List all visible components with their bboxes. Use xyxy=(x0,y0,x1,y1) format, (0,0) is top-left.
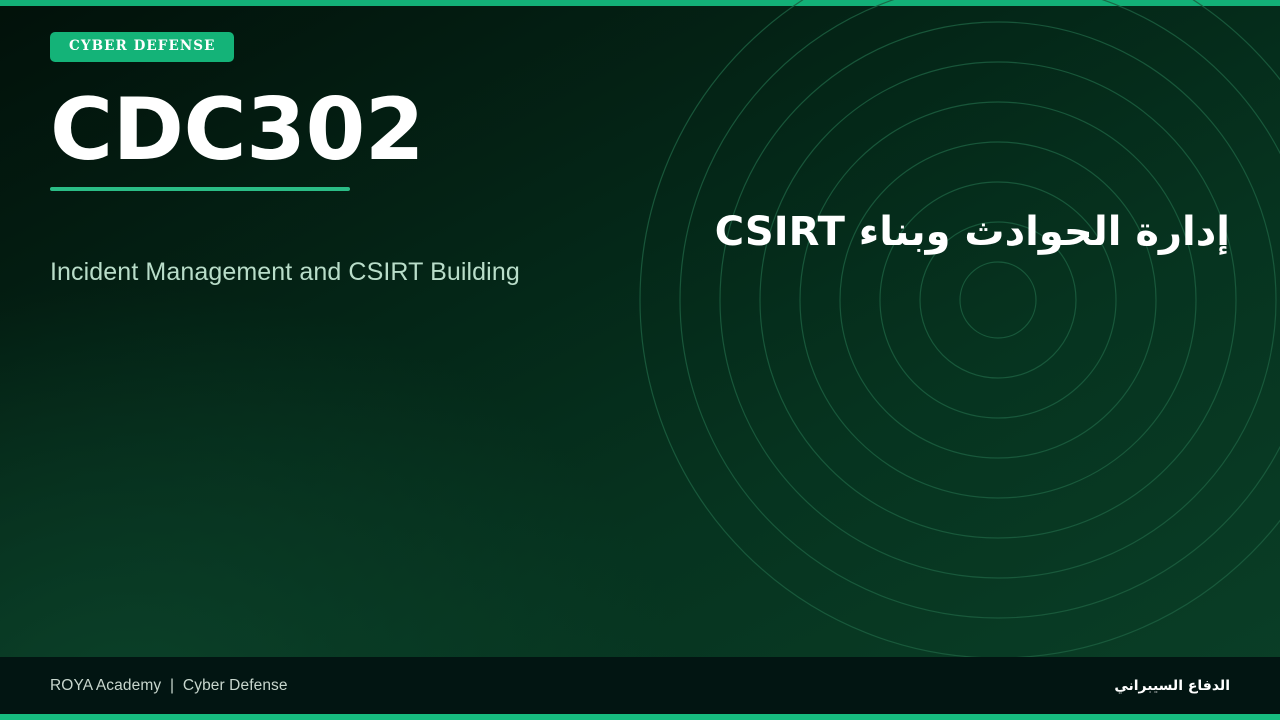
subtitle-english: Incident Management and CSIRT Building xyxy=(50,257,690,287)
title-accent-rule xyxy=(50,187,350,191)
bottom-accent-stripe xyxy=(0,714,1280,720)
slide-footer: ROYA Academy | Cyber Defense الدفاع السي… xyxy=(0,657,1280,714)
ring-9 xyxy=(640,0,1280,658)
title-arabic: إدارة الحوادث وبناء CSIRT xyxy=(610,207,1230,257)
ring-7 xyxy=(720,22,1276,578)
slide-root: CYBER DEFENSE CDC302 Incident Management… xyxy=(0,0,1280,720)
ring-8 xyxy=(680,0,1280,618)
ring-5 xyxy=(800,102,1196,498)
footer-right-text-arabic: الدفاع السيبراني xyxy=(1114,678,1230,694)
slide-content: CYBER DEFENSE CDC302 Incident Management… xyxy=(50,32,690,287)
ring-6 xyxy=(760,62,1236,538)
ring-1 xyxy=(960,262,1036,338)
ring-4 xyxy=(840,142,1156,458)
top-accent-stripe xyxy=(0,0,1280,6)
course-code-title: CDC302 xyxy=(50,87,690,173)
category-badge: CYBER DEFENSE xyxy=(50,32,234,62)
footer-left-text: ROYA Academy | Cyber Defense xyxy=(50,677,288,695)
